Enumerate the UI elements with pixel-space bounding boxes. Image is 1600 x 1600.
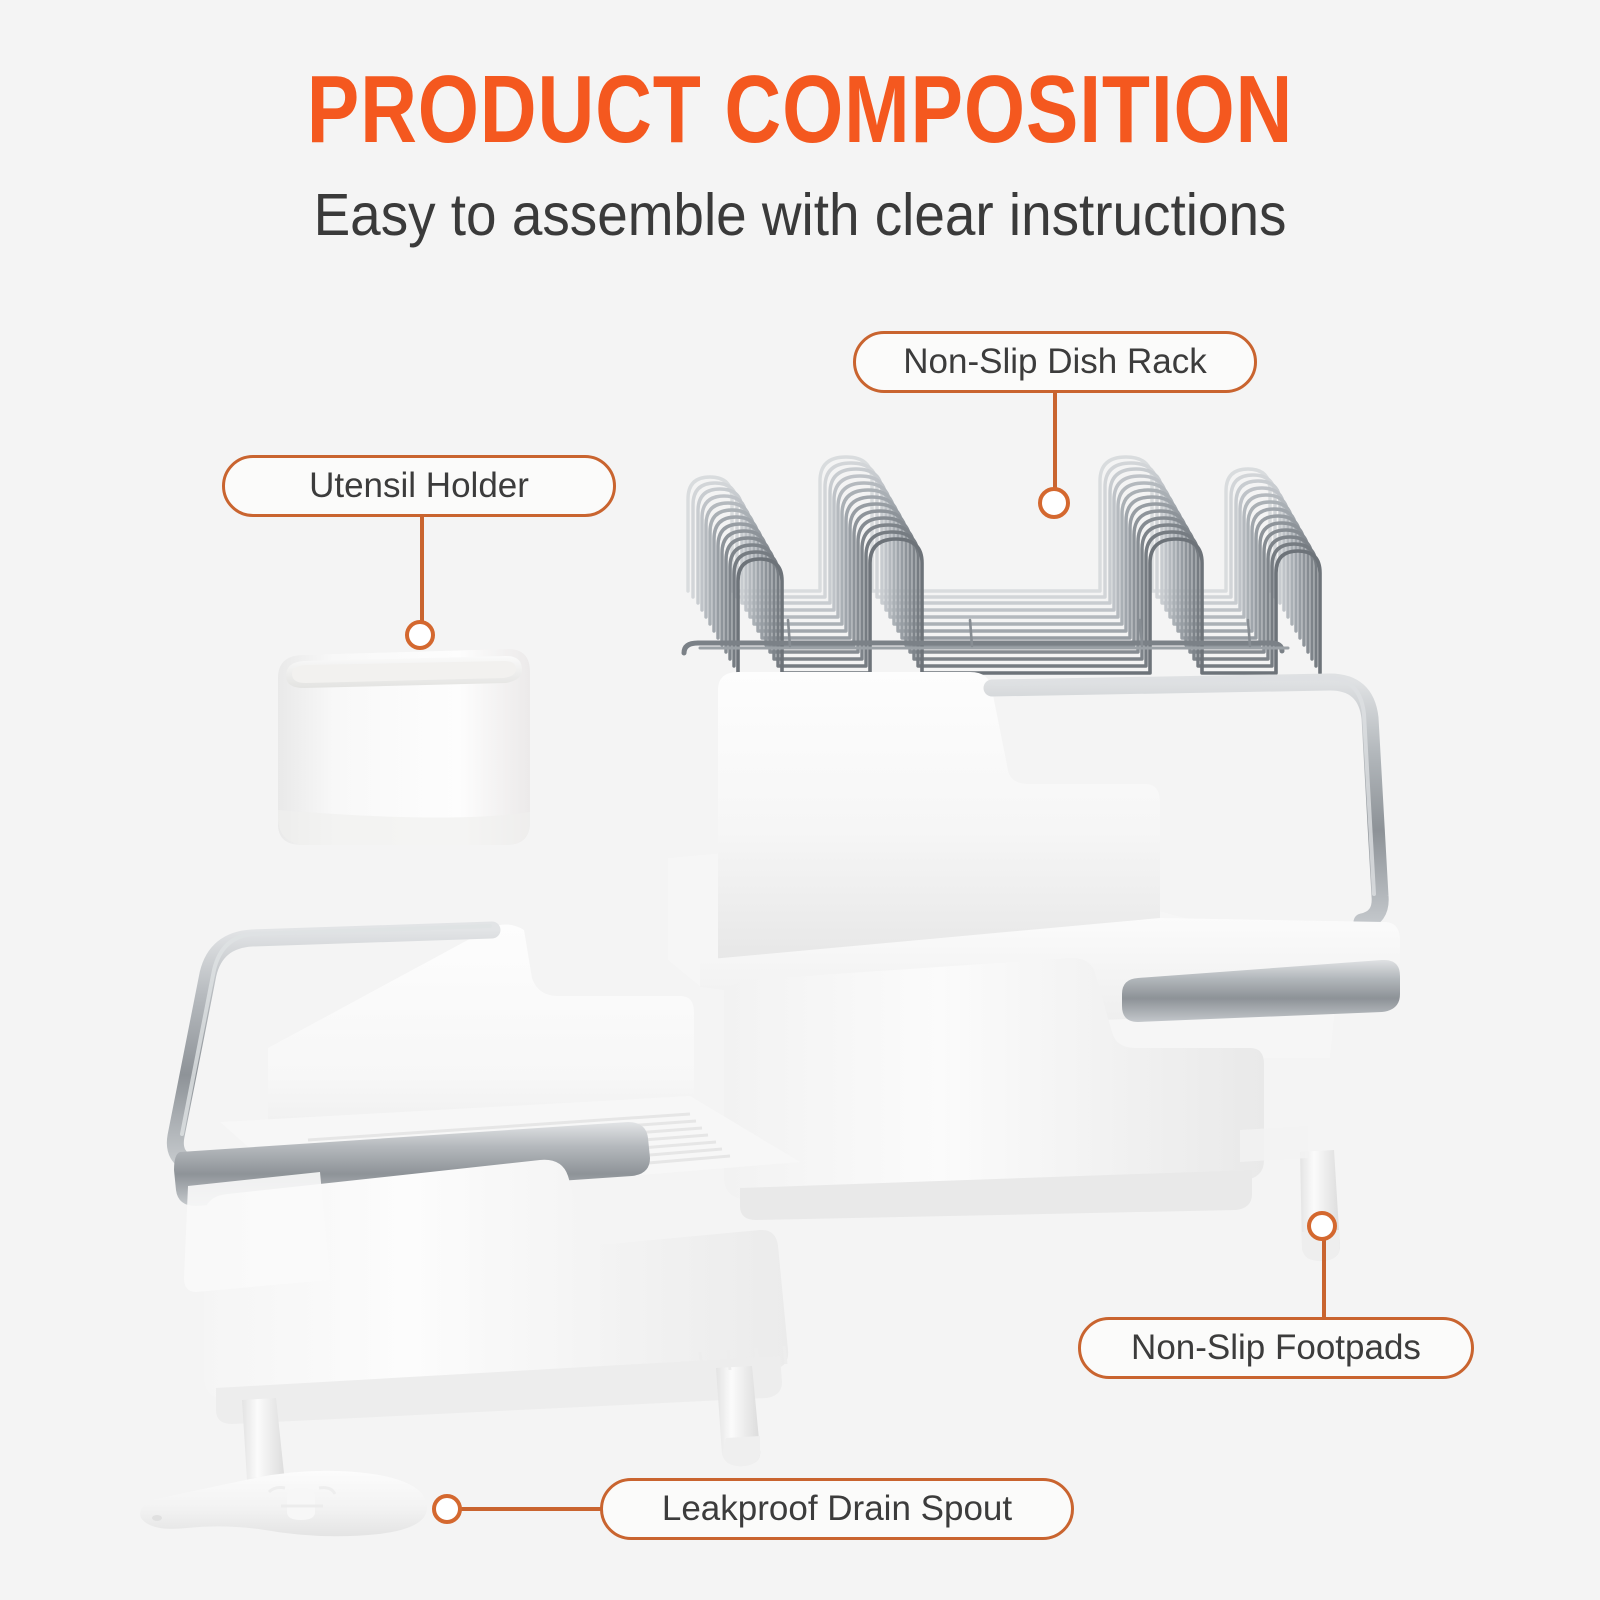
node-dot-footpads: [1307, 1211, 1337, 1241]
drain-spout-illustration: [135, 1462, 445, 1562]
node-dot-utensil-holder: [405, 620, 435, 650]
node-dot-drain-spout: [432, 1494, 462, 1524]
leader-line-drain-spout: [460, 1507, 602, 1511]
callout-leakproof-drain-spout[interactable]: Leakproof Drain Spout: [600, 1478, 1074, 1540]
dish-rack-illustration: [670, 415, 1310, 665]
callout-utensil-holder[interactable]: Utensil Holder: [222, 455, 616, 517]
infographic-canvas: PRODUCT COMPOSITION Easy to assemble wit…: [0, 0, 1600, 1600]
leader-line-footpads: [1322, 1239, 1326, 1319]
page-subtitle: Easy to assemble with clear instructions: [56, 186, 1544, 245]
node-dot-dish-rack: [1038, 487, 1070, 519]
page-title: PRODUCT COMPOSITION: [144, 62, 1456, 158]
leader-line-utensil-holder: [420, 517, 424, 629]
callout-non-slip-footpads[interactable]: Non-Slip Footpads: [1078, 1317, 1474, 1379]
callout-non-slip-dish-rack[interactable]: Non-Slip Dish Rack: [853, 331, 1257, 393]
lower-rack-illustration: [160, 900, 920, 1460]
utensil-holder-illustration: [272, 642, 536, 862]
